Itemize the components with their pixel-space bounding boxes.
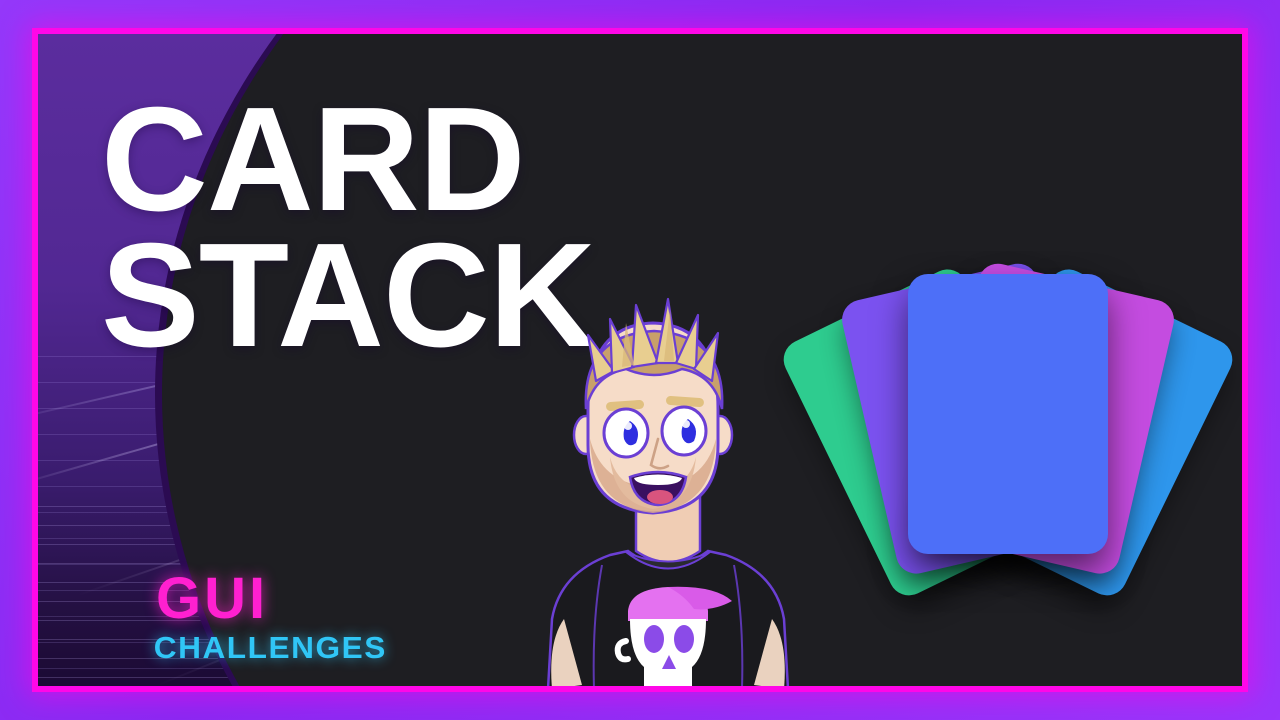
avatar bbox=[518, 289, 818, 686]
headline-line-1: CARD bbox=[101, 92, 595, 228]
brand-logo: GUI CHALLENGES bbox=[156, 570, 385, 663]
neon-frame: CARD STACK GUI CHALLENGES bbox=[32, 28, 1248, 692]
thumbnail-content: CARD STACK GUI CHALLENGES bbox=[38, 34, 1242, 686]
logo-challenges-text: CHALLENGES bbox=[154, 632, 387, 663]
thumbnail-stage: CARD STACK GUI CHALLENGES bbox=[0, 0, 1280, 720]
card-front[interactable] bbox=[908, 274, 1108, 554]
logo-gui-text: GUI bbox=[156, 570, 385, 628]
card-stack[interactable] bbox=[768, 234, 1242, 634]
